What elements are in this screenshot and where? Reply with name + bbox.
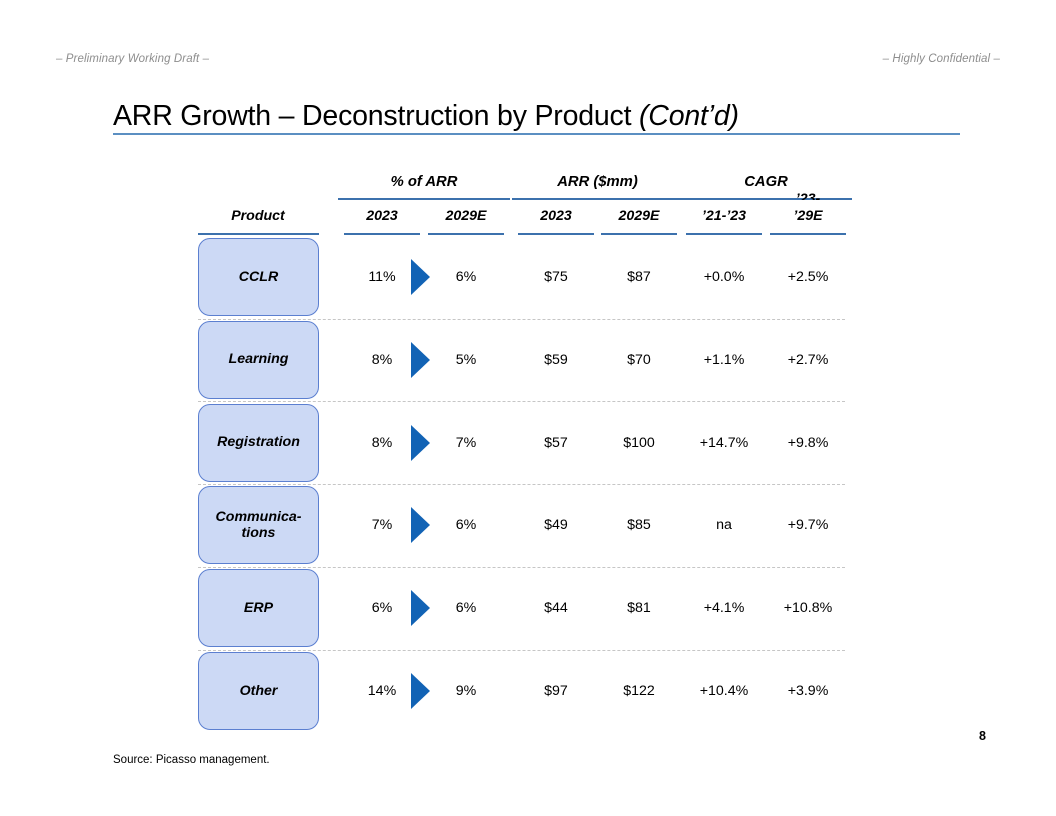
product-card-label: Learning [225,351,293,368]
sub-header-3-1: ’21-’23 [679,208,769,224]
row-separator [198,484,845,485]
group-rule-1 [338,198,510,200]
cell-cagr-23-29e: +2.7% [753,352,863,368]
sub-header-1-1: 2023 [337,208,427,224]
product-card-label: Other [236,683,282,700]
sub-header-clipped-bottom: ’29E [793,208,822,224]
product-card[interactable]: Learning [198,321,319,399]
sub-rule-2-1 [518,233,594,235]
sub-header-2-2: 2029E [594,208,684,224]
product-column-header: Product [178,208,338,224]
sub-header-2-1: 2023 [511,208,601,224]
sub-rule-3-1 [686,233,762,235]
product-column-rule [198,233,319,235]
product-card-label: Communica-tions [212,509,306,543]
source-note: Source: Picasso management. [113,754,270,766]
row-separator [198,650,845,651]
sub-rule-1-1 [344,233,420,235]
product-card[interactable]: ERP [198,569,319,647]
sub-header-clipped-top: ’23- [763,192,853,200]
sub-rule-3-2 [770,233,846,235]
cell-cagr-23-29e: +9.8% [753,435,863,451]
cell-cagr-23-29e: +10.8% [753,600,863,616]
group-header-3: CAGR [676,174,856,190]
product-card-label: Registration [213,434,304,451]
row-separator [198,401,845,402]
product-table: % of ARRARR ($mm)CAGRProduct20232029E202… [0,0,1056,816]
product-card-label: CCLR [235,269,282,286]
sub-header-3-2: ’23-’29E [763,208,853,224]
group-header-2: ARR ($mm) [508,174,688,190]
product-card[interactable]: Other [198,652,319,730]
product-card-label: ERP [240,600,277,617]
sub-rule-1-2 [428,233,504,235]
group-rule-2 [512,198,683,200]
cell-cagr-23-29e: +3.9% [753,683,863,699]
cell-cagr-23-29e: +2.5% [753,269,863,285]
product-card[interactable]: Registration [198,404,319,482]
sub-rule-2-2 [601,233,677,235]
cell-cagr-23-29e: +9.7% [753,517,863,533]
product-card[interactable]: Communica-tions [198,486,319,564]
row-separator [198,319,845,320]
page-number: 8 [979,729,986,743]
product-card[interactable]: CCLR [198,238,319,316]
row-separator [198,567,845,568]
slide-canvas: – Preliminary Working Draft – – Highly C… [0,0,1056,816]
sub-header-1-2: 2029E [421,208,511,224]
group-header-1: % of ARR [334,174,514,190]
